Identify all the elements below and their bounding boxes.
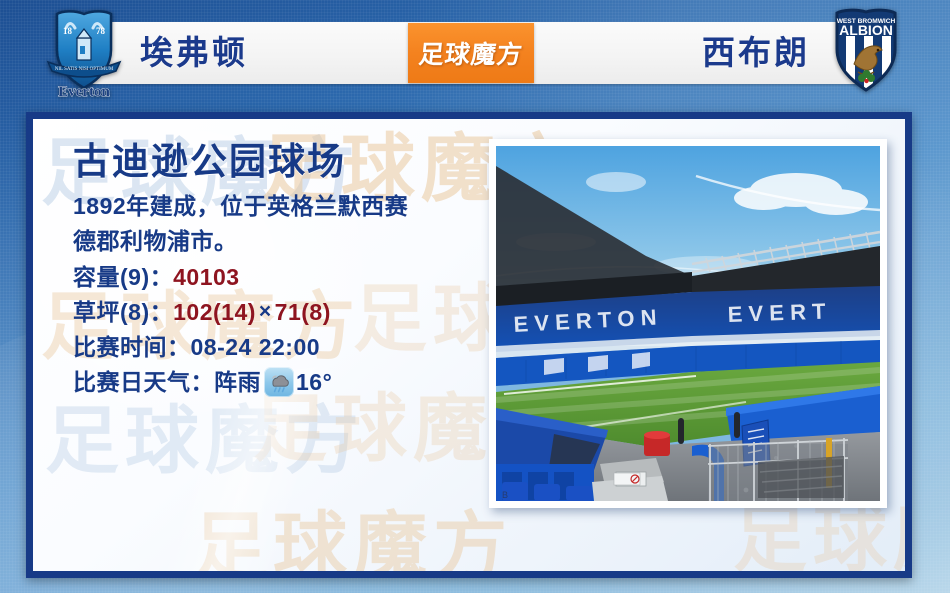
- svg-text:Everton: Everton: [58, 84, 110, 100]
- away-team-name: 西布朗: [702, 22, 810, 84]
- svg-text:ALBION: ALBION: [839, 22, 893, 38]
- rain-shower-icon: [264, 367, 294, 397]
- weather-condition: 阵雨: [214, 365, 261, 400]
- pitch-times-symbol: ×: [256, 296, 275, 328]
- svg-text:78: 78: [96, 26, 106, 36]
- everton-crest[interactable]: 18 78 NIL SATIS NISI OPTIMUM Everton: [36, 4, 132, 100]
- venue-photo: E V E R T O N E V E R T: [496, 146, 880, 501]
- venue-photo-frame[interactable]: E V E R T O N E V E R T: [489, 139, 887, 508]
- page-title: 古迪逊公园球场: [73, 141, 473, 182]
- pitch-row: 草坪(8)： 102(14) × 71(8): [73, 295, 473, 330]
- weather-row: 比赛日天气： 阵雨 16°: [73, 365, 473, 400]
- weather-label: 比赛日天气：: [73, 365, 214, 400]
- pitch-length-value: 102(14): [173, 295, 256, 330]
- match-venue-card-screen: 18 78 NIL SATIS NISI OPTIMUM Everton 埃弗顿…: [0, 0, 950, 593]
- weather-temperature: 16°: [296, 365, 332, 400]
- pitch-label: 草坪(8)：: [73, 295, 173, 330]
- svg-text:NIL SATIS NISI OPTIMUM: NIL SATIS NISI OPTIMUM: [55, 67, 114, 72]
- pitch-width-value: 71(8): [275, 295, 331, 330]
- svg-text:B: B: [502, 490, 508, 500]
- match-header: 18 78 NIL SATIS NISI OPTIMUM Everton 埃弗顿…: [0, 0, 950, 104]
- capacity-value: 40103: [173, 260, 239, 295]
- west-bromwich-albion-crest[interactable]: WEST BROMWICH ALBION: [818, 4, 914, 100]
- svg-text:18: 18: [63, 26, 73, 36]
- capacity-label: 容量(9)：: [73, 260, 173, 295]
- home-team-name: 埃弗顿: [140, 22, 248, 84]
- venue-info-card: 足球魔方 足球魔方 足球魔方 足球魔方 足球魔方 足球魔方 足球魔方 足球魔方 …: [26, 112, 912, 578]
- kickoff-value: 08-24 22:00: [191, 330, 321, 365]
- venue-info-block: 古迪逊公园球场 1892年建成，位于英格兰默西赛 德郡利物浦市。 容量(9)： …: [73, 141, 473, 400]
- brand-logo[interactable]: 足球魔方: [408, 23, 534, 83]
- venue-description-line-2: 德郡利物浦市。: [73, 225, 473, 258]
- kickoff-row: 比赛时间： 08-24 22:00: [73, 330, 473, 365]
- venue-description-line-1: 1892年建成，位于英格兰默西赛: [73, 190, 473, 223]
- svg-text:E V E R T: E V E R T: [727, 299, 826, 327]
- brand-logo-label: 足球魔方: [417, 35, 525, 71]
- capacity-row: 容量(9)： 40103: [73, 260, 473, 295]
- kickoff-label: 比赛时间：: [73, 330, 191, 365]
- watermark: 足球魔方: [193, 487, 513, 578]
